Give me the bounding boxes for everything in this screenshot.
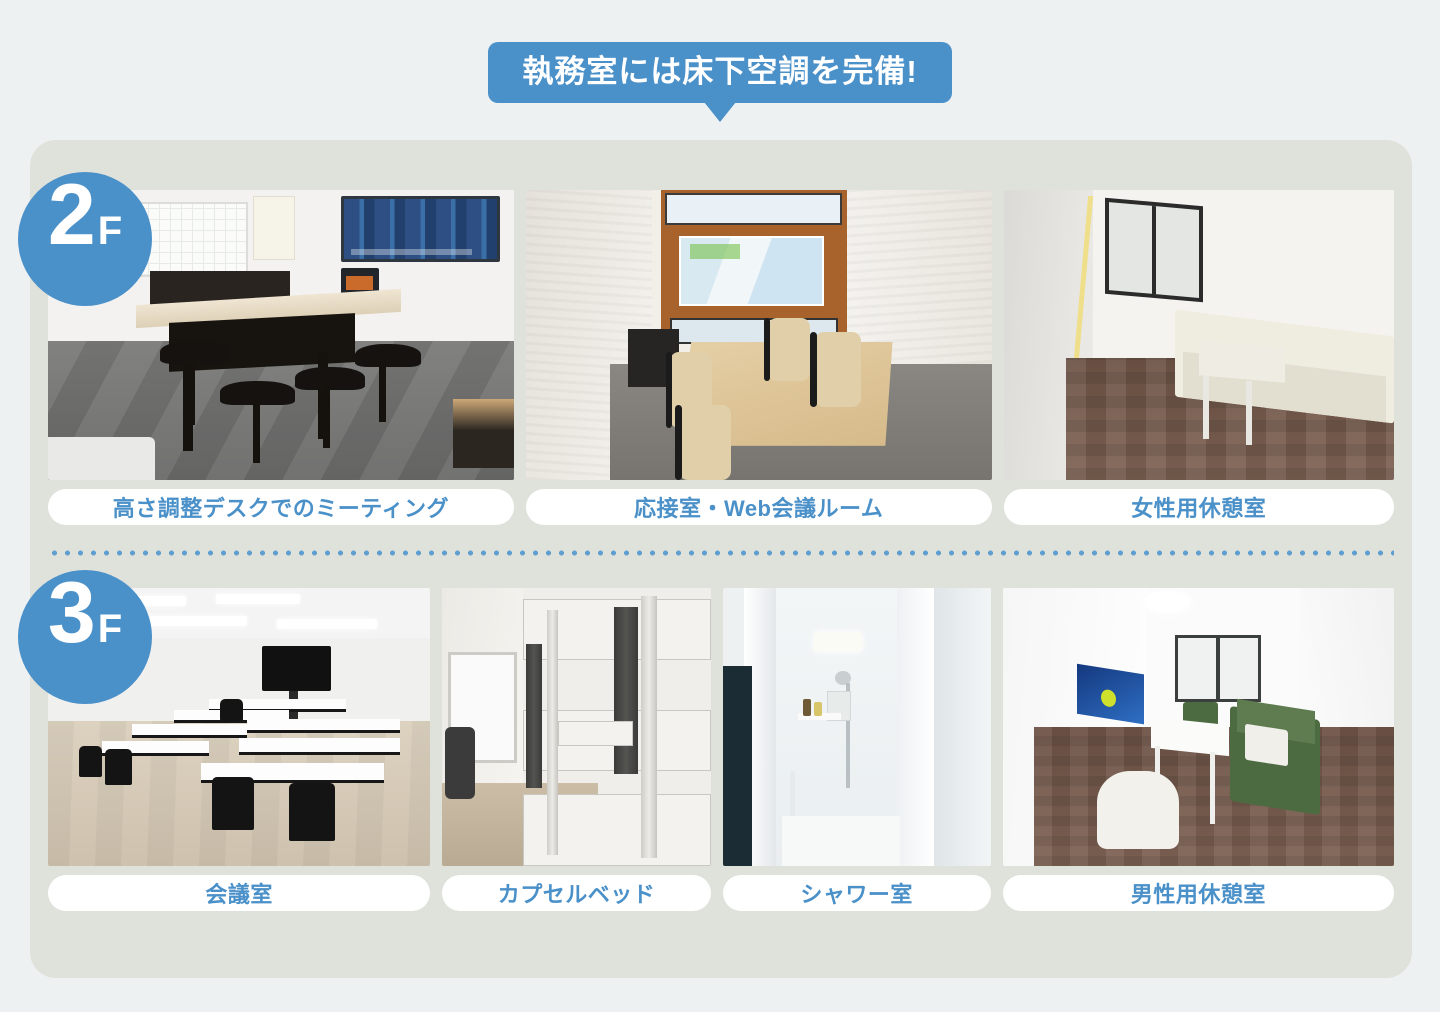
photo-row-2f: 高さ調整デスクでのミーティング xyxy=(48,190,1394,525)
photo-mens-rest-room xyxy=(1003,588,1394,866)
floor-badge-2f: 2 F xyxy=(18,172,152,306)
floor-badge-number: 2 xyxy=(48,172,96,258)
photo-label-height-adjust-desk-meeting: 高さ調整デスクでのミーティング xyxy=(48,489,514,525)
photo-womens-rest-room xyxy=(1004,190,1394,480)
floor-badge-3f: 3 F xyxy=(18,570,152,704)
photo-shower-room xyxy=(723,588,991,866)
floor-badge-number: 3 xyxy=(48,570,96,656)
photo-label-shower-room: シャワー室 xyxy=(723,875,991,911)
photo-cell-shower-room[interactable]: シャワー室 xyxy=(723,588,991,911)
photo-cell-mens-rest-room[interactable]: 男性用休憩室 xyxy=(1003,588,1394,911)
photo-reception-web-meeting-room xyxy=(526,190,992,480)
floor-section-3f: 会議室 xyxy=(48,588,1394,911)
photo-label-capsule-bed: カプセルベッド xyxy=(442,875,710,911)
facility-card: 2 F xyxy=(30,140,1412,978)
photo-cell-capsule-bed[interactable]: カプセルベッド xyxy=(442,588,710,911)
section-divider xyxy=(48,549,1394,557)
photo-label-mens-rest-room: 男性用休憩室 xyxy=(1003,875,1394,911)
headline-banner: 執務室には床下空調を完備! xyxy=(488,42,951,103)
photo-label-reception-web-meeting-room: 応接室・Web会議ルーム xyxy=(526,489,992,525)
floor-badge-suffix: F xyxy=(98,211,122,251)
banner-container: 執務室には床下空調を完備! xyxy=(0,42,1440,103)
floor-badge-suffix: F xyxy=(98,609,122,649)
photo-cell-reception-web-meeting-room[interactable]: 応接室・Web会議ルーム xyxy=(526,190,992,525)
photo-cell-womens-rest-room[interactable]: 女性用休憩室 xyxy=(1004,190,1394,525)
floor-section-2f: 高さ調整デスクでのミーティング xyxy=(48,190,1394,525)
photo-row-3f: 会議室 xyxy=(48,588,1394,911)
photo-label-womens-rest-room: 女性用休憩室 xyxy=(1004,489,1394,525)
photo-capsule-bed xyxy=(442,588,710,866)
photo-label-conference-room: 会議室 xyxy=(48,875,430,911)
